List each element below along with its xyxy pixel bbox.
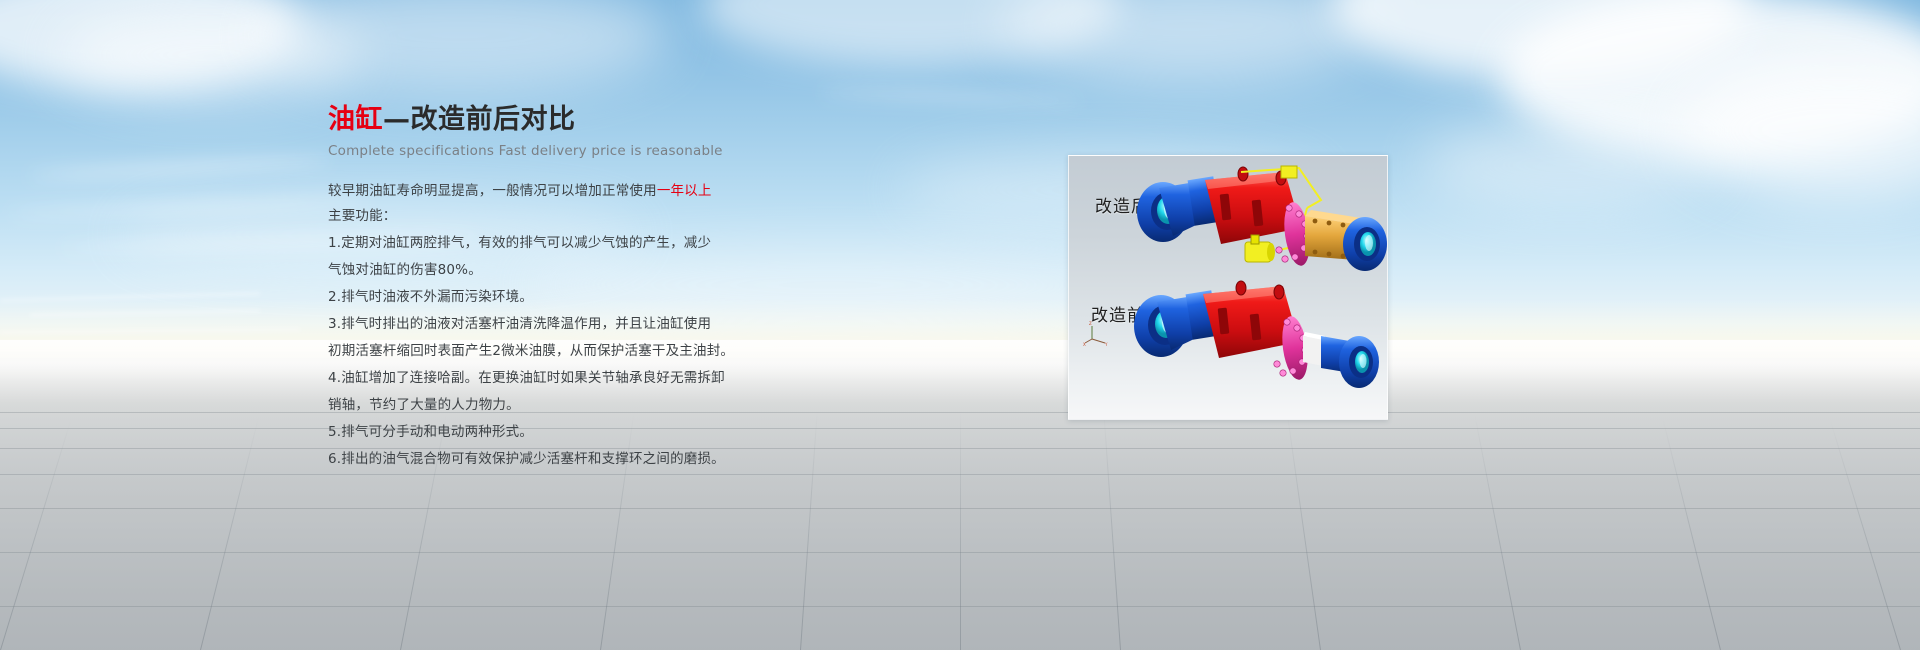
hero-banner: 油缸—改造前后对比 Complete specifications Fast d… xyxy=(0,0,1920,650)
feature-line: 6.排出的油气混合物可有效保护减少活塞杆和支撑环之间的磨损。 xyxy=(328,447,758,472)
cylinder-before-modification xyxy=(1119,274,1379,404)
feature-line: 销轴，节约了大量的人力物力。 xyxy=(328,393,758,418)
features-title: 主要功能： xyxy=(328,204,758,229)
lead-text: 较早期油缸寿命明显提高，一般情况可以增加正常使用 xyxy=(328,183,657,199)
hero-text-block: 油缸—改造前后对比 Complete specifications Fast d… xyxy=(328,104,758,474)
feature-line: 5.排气可分手动和电动两种形式。 xyxy=(328,420,758,445)
product-comparison-figure: 改造后 改造前 Z X Y xyxy=(1068,155,1388,420)
svg-text:Y: Y xyxy=(1104,342,1108,347)
lead-highlight: 一年以上 xyxy=(657,183,712,199)
feature-line: 4.油缸增加了连接哈副。在更换油缸时如果关节轴承良好无需拆卸 xyxy=(328,366,758,391)
page-title-highlight: 油缸 xyxy=(328,104,383,135)
page-title: 油缸—改造前后对比 xyxy=(328,104,758,136)
feature-line: 初期活塞杆缩回时表面产生2微米油膜，从而保护活塞干及主油封。 xyxy=(328,339,758,364)
svg-text:Z: Z xyxy=(1089,321,1092,326)
front-eye-before xyxy=(1339,336,1379,388)
page-subtitle: Complete specifications Fast delivery pr… xyxy=(328,143,758,159)
lead-paragraph: 较早期油缸寿命明显提高，一般情况可以增加正常使用一年以上 xyxy=(328,179,758,204)
svg-text:X: X xyxy=(1083,342,1086,347)
coordinate-axis-icon: Z X Y xyxy=(1083,321,1109,347)
page-title-rest: —改造前后对比 xyxy=(383,104,576,135)
feature-line: 2.排气时油液不外漏而污染环境。 xyxy=(328,285,758,310)
front-eye-after xyxy=(1343,217,1387,271)
feature-line: 1.定期对油缸两腔排气，有效的排气可以减少气蚀的产生，减少 xyxy=(328,231,758,256)
feature-description: 较早期油缸寿命明显提高，一般情况可以增加正常使用一年以上 主要功能： 1.定期对… xyxy=(328,179,758,472)
feature-line: 3.排气时排出的油液对活塞杆油清洗降温作用，并且让油缸使用 xyxy=(328,312,758,337)
exhaust-valve-after xyxy=(1245,235,1275,262)
feature-line: 气蚀对油缸的伤害80%。 xyxy=(328,258,758,283)
